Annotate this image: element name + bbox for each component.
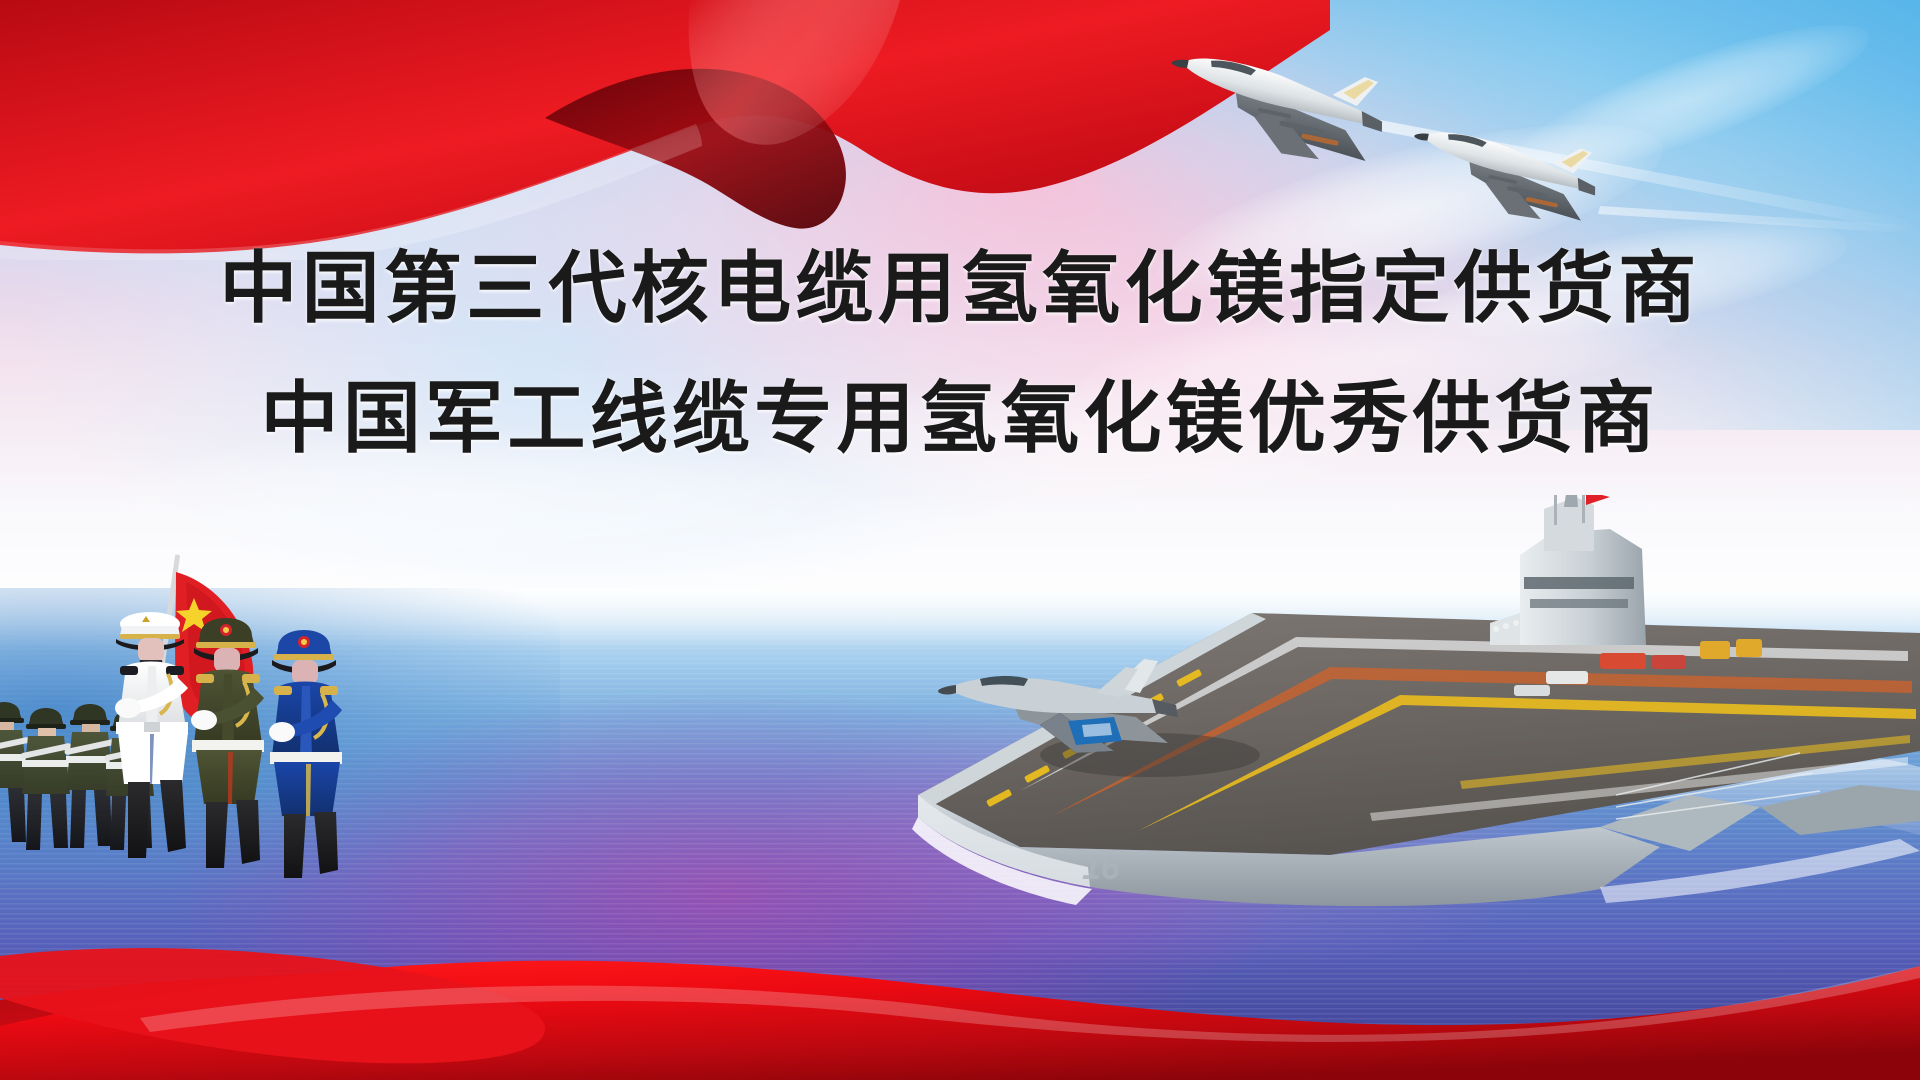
fighter-jet-icon [1158,37,1392,173]
fighter-jet-formation-icon [1130,20,1920,240]
honor-guard-army [191,618,264,868]
red-ribbon-icon [0,850,1920,1080]
banner-canvas: 16 [0,0,1920,1080]
carrier-island [1490,495,1646,645]
honor-guard-airforce [269,630,342,878]
